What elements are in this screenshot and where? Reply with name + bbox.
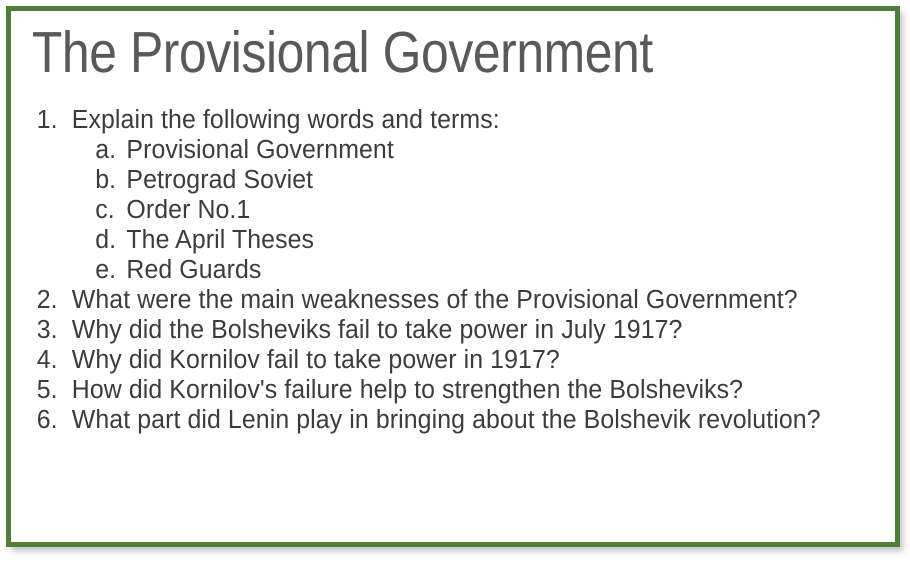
question-text: What part did Lenin play in bringing abo… bbox=[72, 405, 852, 435]
question-number: 6. bbox=[37, 405, 72, 435]
question-number: 1. bbox=[37, 105, 72, 135]
sub-question-letter: d. bbox=[95, 225, 126, 255]
question-number: 2. bbox=[37, 285, 72, 315]
page-title: The Provisional Government bbox=[25, 15, 763, 91]
sub-question-text: Provisional Government bbox=[126, 135, 861, 165]
question-item: 5.How did Kornilov's failure help to str… bbox=[25, 375, 862, 405]
sub-question-letter: a. bbox=[95, 135, 126, 165]
sub-list-wrapper: a.Provisional Governmentb.Petrograd Sovi… bbox=[25, 135, 862, 285]
question-item: 2.What were the main weaknesses of the P… bbox=[25, 285, 862, 315]
question-text: Why did the Bolsheviks fail to take powe… bbox=[72, 315, 852, 345]
question-text: Explain the following words and terms: bbox=[72, 105, 852, 135]
question-number: 5. bbox=[37, 375, 72, 405]
question-text: How did Kornilov's failure help to stren… bbox=[72, 375, 852, 405]
question-item: 6.What part did Lenin play in bringing a… bbox=[25, 405, 862, 435]
green-framed-card: The Provisional Government 1.Explain the… bbox=[6, 6, 900, 547]
sub-question-item: a.Provisional Government bbox=[25, 135, 862, 165]
sub-question-text: The April Theses bbox=[126, 225, 861, 255]
sub-question-item: c.Order No.1 bbox=[25, 195, 862, 225]
sub-question-item: b.Petrograd Soviet bbox=[25, 165, 862, 195]
sub-question-letter: e. bbox=[95, 255, 126, 285]
card-content: The Provisional Government 1.Explain the… bbox=[11, 11, 895, 542]
sub-question-letter: c. bbox=[95, 195, 126, 225]
sub-question-list: a.Provisional Governmentb.Petrograd Sovi… bbox=[25, 135, 862, 285]
question-text: Why did Kornilov fail to take power in 1… bbox=[72, 345, 852, 375]
question-number: 3. bbox=[37, 315, 72, 345]
question-item: 3.Why did the Bolsheviks fail to take po… bbox=[25, 315, 862, 345]
slide-page: The Provisional Government 1.Explain the… bbox=[0, 0, 910, 562]
question-text: What were the main weaknesses of the Pro… bbox=[72, 285, 852, 315]
sub-question-text: Red Guards bbox=[126, 255, 861, 285]
sub-question-letter: b. bbox=[95, 165, 126, 195]
question-item: 4.Why did Kornilov fail to take power in… bbox=[25, 345, 862, 375]
question-number: 4. bbox=[37, 345, 72, 375]
question-item: 1.Explain the following words and terms: bbox=[25, 105, 862, 135]
question-list: 1.Explain the following words and terms:… bbox=[25, 105, 862, 435]
sub-question-item: d.The April Theses bbox=[25, 225, 862, 255]
sub-question-item: e.Red Guards bbox=[25, 255, 862, 285]
sub-question-text: Petrograd Soviet bbox=[126, 165, 861, 195]
sub-question-text: Order No.1 bbox=[126, 195, 861, 225]
